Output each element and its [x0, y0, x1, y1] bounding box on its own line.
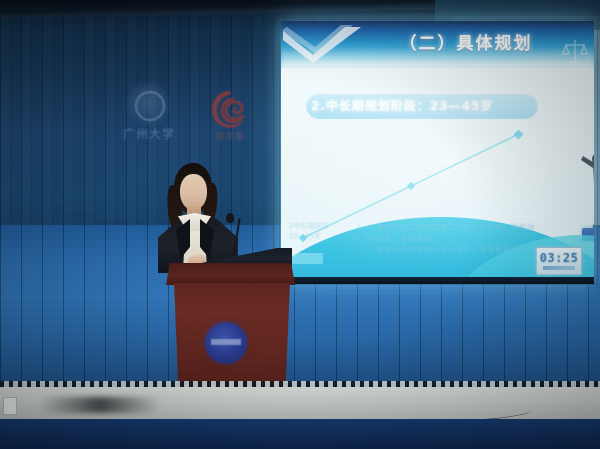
screen-bottom-lip — [281, 277, 594, 284]
clock-time-display: 03:25 — [537, 251, 581, 265]
clock-progress-bar — [543, 266, 575, 270]
wall-outlet-plate — [3, 397, 17, 415]
slide-title: （二）具体规划 — [371, 31, 561, 57]
red-logo-caption: 团学联 — [207, 131, 255, 143]
presenter-face — [180, 174, 207, 210]
chevron-decoration-icon — [283, 25, 371, 65]
presentation-photo: 广州大学 团学联 （二）具体规划 — [0, 0, 600, 449]
university-emblem-ring-icon — [135, 91, 165, 121]
slide-footer-tab — [289, 253, 323, 264]
lectern-top — [166, 263, 295, 285]
scale-emblem-icon — [562, 37, 588, 65]
red-swirl-logo-icon — [210, 88, 250, 130]
stage-floor — [0, 419, 600, 449]
digital-clock-widget[interactable]: 03:25 — [536, 247, 582, 275]
baseboard-shadow — [40, 397, 160, 413]
microphone-head-icon — [226, 213, 234, 223]
slide-side-text: 2中长期规划 23—45岁 — [289, 221, 349, 241]
slide-body-line: 学习和积累，全面发展 — [353, 233, 568, 244]
projection-screen: （二）具体规划 2.中长期规划阶段：23—45岁 — [281, 21, 594, 281]
university-name-text: 广州大学 — [118, 126, 180, 142]
slide-side-line: 2中长期规划 — [289, 221, 349, 231]
slide-body-line: （一）最高层的工作状态是实现自己的梦想，不断地 — [353, 222, 568, 233]
slide-side-line: 23—45岁 — [289, 231, 349, 241]
climbing-person-silhouette-icon — [581, 146, 594, 231]
institution-seal-band — [211, 339, 241, 345]
slide-subtitle-text: 2.中长期规划阶段：23—45岁 — [311, 97, 536, 115]
